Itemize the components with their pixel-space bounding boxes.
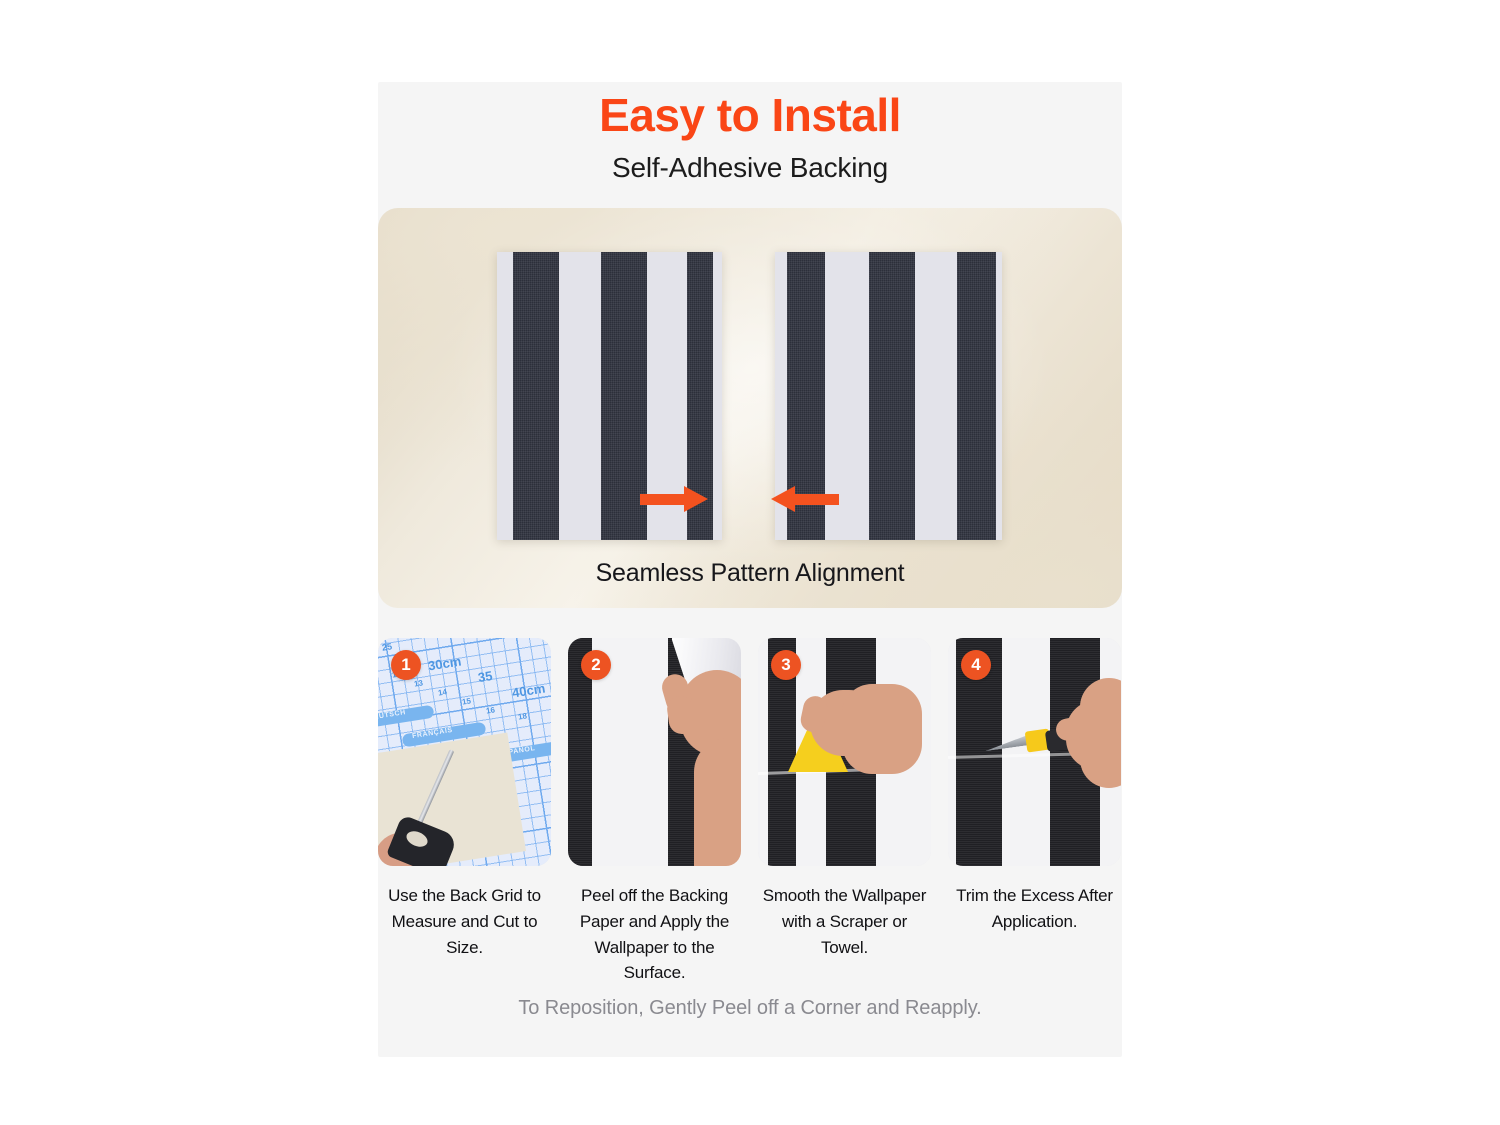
forearm	[1080, 678, 1121, 788]
hero-illustration: Seamless Pattern Alignment	[378, 208, 1122, 608]
arrow-left-icon	[771, 486, 839, 512]
stripe-light	[713, 252, 722, 540]
mat-label: 35	[477, 668, 494, 685]
stripe-light	[948, 638, 956, 866]
step-1-caption: Use the Back Grid to Measure and Cut to …	[378, 883, 551, 960]
step-2: 2 Peel off the Backing Paper and Apply t…	[568, 638, 741, 986]
step-2-image: 2	[568, 638, 741, 866]
steps-row: 25 30cm 35 40cm 12 13 14 15 16 18 DEUTSC…	[378, 638, 1122, 986]
mat-label: 15	[461, 696, 471, 706]
step-3-image: 3	[758, 638, 931, 866]
arrow-shaft	[791, 494, 839, 505]
stripe-light	[996, 252, 1002, 540]
hero-caption: Seamless Pattern Alignment	[378, 559, 1122, 588]
install-instructions-card: Easy to Install Self-Adhesive Backing	[378, 82, 1122, 1057]
step-4-image: 4	[948, 638, 1121, 866]
footer-note: To Reposition, Gently Peel off a Corner …	[378, 997, 1122, 1020]
mat-label: 16	[485, 705, 495, 715]
stripe-dark	[513, 252, 559, 540]
step-3: 3 Smooth the Wallpaper with a Scraper or…	[758, 638, 931, 986]
arrow-head	[684, 486, 708, 512]
page-subtitle: Self-Adhesive Backing	[378, 152, 1122, 184]
step-1-image: 25 30cm 35 40cm 12 13 14 15 16 18 DEUTSC…	[378, 638, 551, 866]
arrow-head	[771, 486, 795, 512]
mat-label: 14	[437, 687, 447, 697]
step-4-caption: Trim the Excess After Application.	[948, 883, 1121, 935]
forearm	[842, 684, 922, 774]
stripe-dark	[869, 252, 915, 540]
forearm	[694, 738, 741, 866]
mat-label: 25	[381, 641, 392, 652]
arrow-right-icon	[640, 486, 708, 512]
stripe-light	[1002, 638, 1050, 866]
step-3-caption: Smooth the Wallpaper with a Scraper or T…	[758, 883, 931, 960]
mat-label: 18	[517, 711, 527, 721]
step-badge: 4	[961, 650, 991, 680]
arrow-shaft	[640, 494, 688, 505]
hero-sheen	[378, 208, 1122, 608]
mat-label: 13	[413, 678, 423, 688]
step-1: 25 30cm 35 40cm 12 13 14 15 16 18 DEUTSC…	[378, 638, 551, 986]
step-badge: 3	[771, 650, 801, 680]
stripe-light	[915, 252, 957, 540]
stripe-light	[559, 252, 601, 540]
step-badge: 1	[391, 650, 421, 680]
step-2-caption: Peel off the Backing Paper and Apply the…	[568, 883, 741, 986]
step-badge: 2	[581, 650, 611, 680]
page-title: Easy to Install	[378, 90, 1122, 141]
stripe-light	[497, 252, 513, 540]
stripe-dark	[957, 252, 996, 540]
step-4: 4 Trim the Excess After Application.	[948, 638, 1121, 986]
stripe-light	[758, 638, 768, 866]
